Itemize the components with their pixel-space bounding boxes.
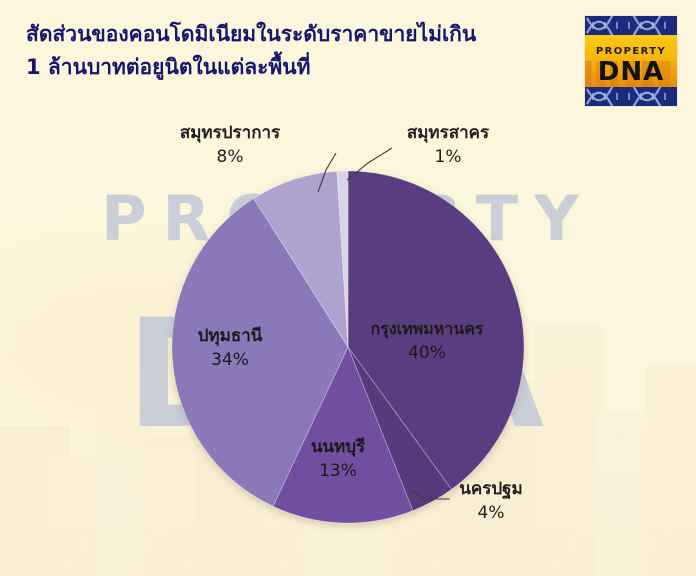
slice-label-nakhon-pathom-name: นครปฐม: [416, 478, 566, 500]
slice-label-samut-prakan-pct: 8%: [140, 144, 320, 170]
slide-canvas: PROPERTY DNA สัดส่วนของคอนโดมิเนียมในระด…: [0, 0, 696, 576]
slice-label-samut-sakhon-name: สมุทรสาคร: [368, 122, 528, 144]
slice-label-nonthaburi-name: นนทบุรี: [278, 436, 398, 458]
slice-label-pathum-thani: ปทุมธานี 34%: [160, 325, 300, 373]
slice-label-bangkok-pct: 40%: [352, 340, 502, 366]
slice-label-bangkok-name: กรุงเทพมหานคร: [352, 318, 502, 340]
slice-label-nonthaburi-pct: 13%: [278, 458, 398, 484]
slice-label-nonthaburi: นนทบุรี 13%: [278, 436, 398, 484]
slice-label-samut-prakan: สมุทรปราการ 8%: [140, 122, 320, 170]
pie-chart-svg: [0, 0, 696, 576]
slice-label-bangkok: กรุงเทพมหานคร 40%: [352, 318, 502, 366]
slice-label-pathum-thani-name: ปทุมธานี: [160, 325, 300, 347]
slice-label-nakhon-pathom: นครปฐม 4%: [416, 478, 566, 526]
pie-chart: กรุงเทพมหานคร 40% ปทุมธานี 34% นนทบุรี 1…: [0, 0, 696, 576]
slice-label-samut-sakhon-pct: 1%: [368, 144, 528, 170]
slice-label-samut-prakan-name: สมุทรปราการ: [140, 122, 320, 144]
slice-label-pathum-thani-pct: 34%: [160, 347, 300, 373]
slice-label-nakhon-pathom-pct: 4%: [416, 500, 566, 526]
slice-label-samut-sakhon: สมุทรสาคร 1%: [368, 122, 528, 170]
